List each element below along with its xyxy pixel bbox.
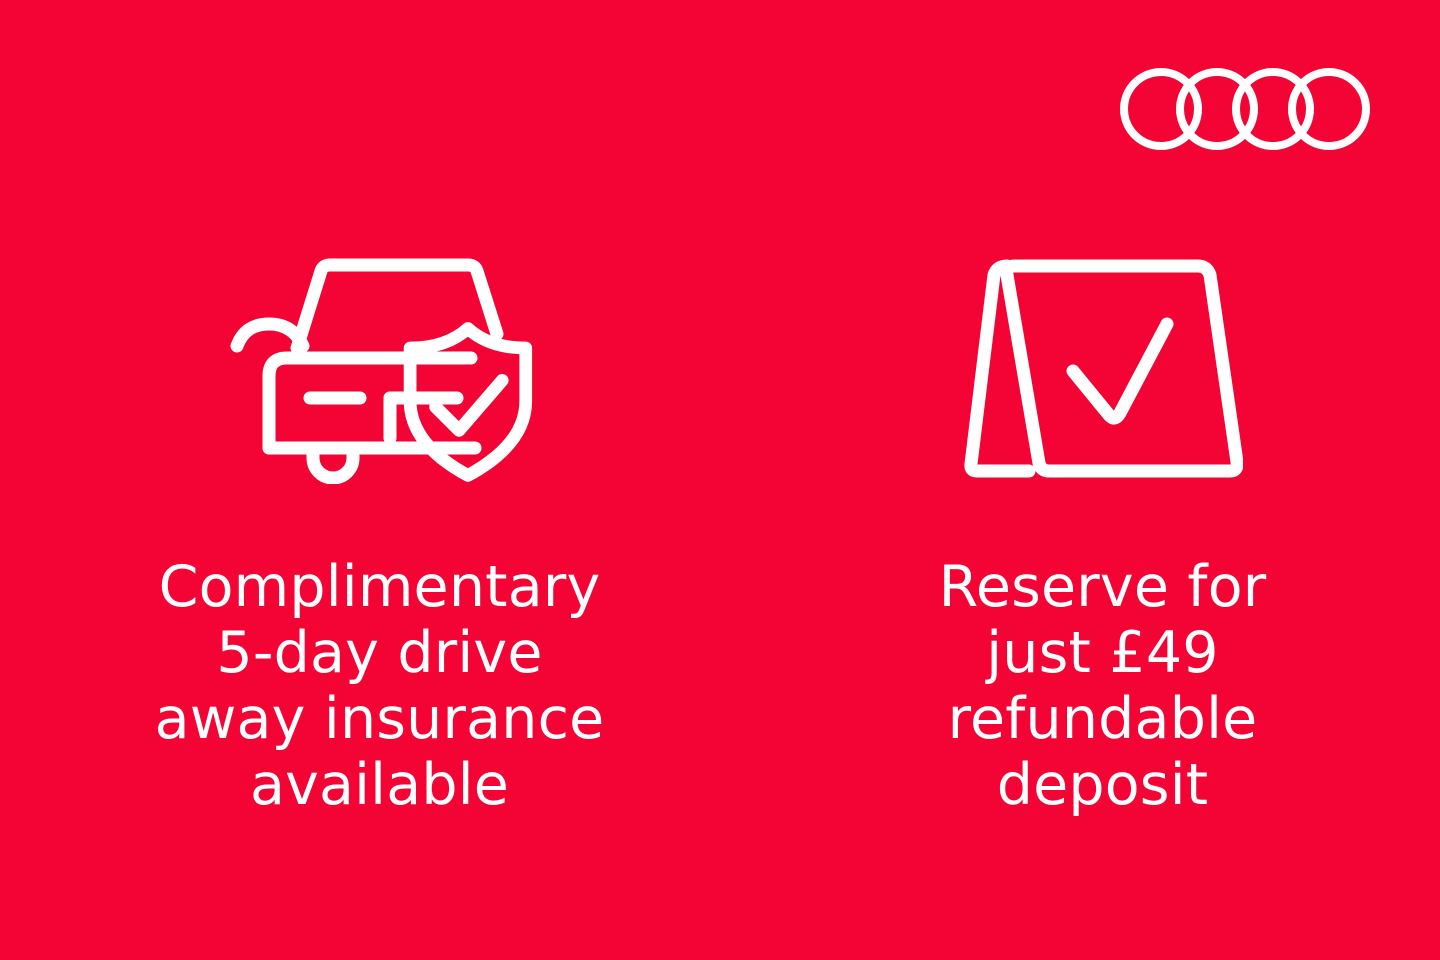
feature-list: Complimentary 5-day drive away insurance… <box>0 0 1440 960</box>
car-shield-icon-wrapper <box>225 250 535 486</box>
feature-item-deposit: Reserve for just £49 refundable deposit <box>717 0 1440 818</box>
car-shield-icon <box>225 252 535 484</box>
feature-item-insurance: Complimentary 5-day drive away insurance… <box>0 0 717 818</box>
promo-banner: Complimentary 5-day drive away insurance… <box>0 0 1440 960</box>
tent-card-check-icon-wrapper <box>963 250 1243 486</box>
feature-label-deposit: Reserve for just £49 refundable deposit <box>868 554 1338 818</box>
tent-card-check-icon <box>963 252 1243 484</box>
feature-label-insurance: Complimentary 5-day drive away insurance… <box>100 554 660 818</box>
